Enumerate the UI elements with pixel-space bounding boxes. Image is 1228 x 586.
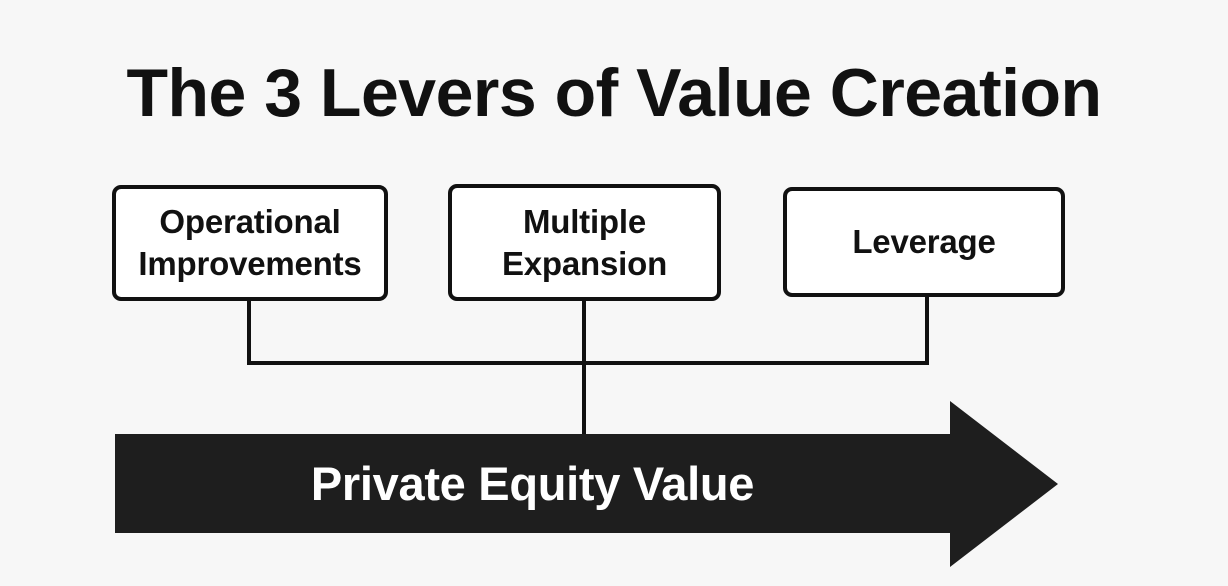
lever-label-multiple-expansion: Multiple Expansion xyxy=(496,201,673,285)
lever-box-operational[interactable]: Operational Improvements xyxy=(112,185,388,301)
lever-label-operational-line1: Operational xyxy=(159,203,340,240)
right-arrow-icon xyxy=(115,399,1060,571)
connector-drop-leverage xyxy=(925,295,929,365)
lever-label-leverage-line1: Leverage xyxy=(852,223,995,260)
page-title: The 3 Levers of Value Creation xyxy=(0,58,1228,128)
outcome-arrow[interactable] xyxy=(115,399,1060,571)
connector-bus-bar xyxy=(247,361,929,365)
lever-box-leverage[interactable]: Leverage xyxy=(783,187,1065,297)
lever-label-operational: Operational Improvements xyxy=(132,201,367,285)
lever-label-leverage: Leverage xyxy=(846,221,1001,263)
lever-box-multiple-expansion[interactable]: Multiple Expansion xyxy=(448,184,721,301)
lever-label-multiple-line1: Multiple xyxy=(523,203,646,240)
lever-label-operational-line2: Improvements xyxy=(138,245,361,282)
connector-drop-operational xyxy=(247,299,251,365)
lever-label-multiple-line2: Expansion xyxy=(502,245,667,282)
diagram-canvas: The 3 Levers of Value Creation Operation… xyxy=(0,0,1228,586)
